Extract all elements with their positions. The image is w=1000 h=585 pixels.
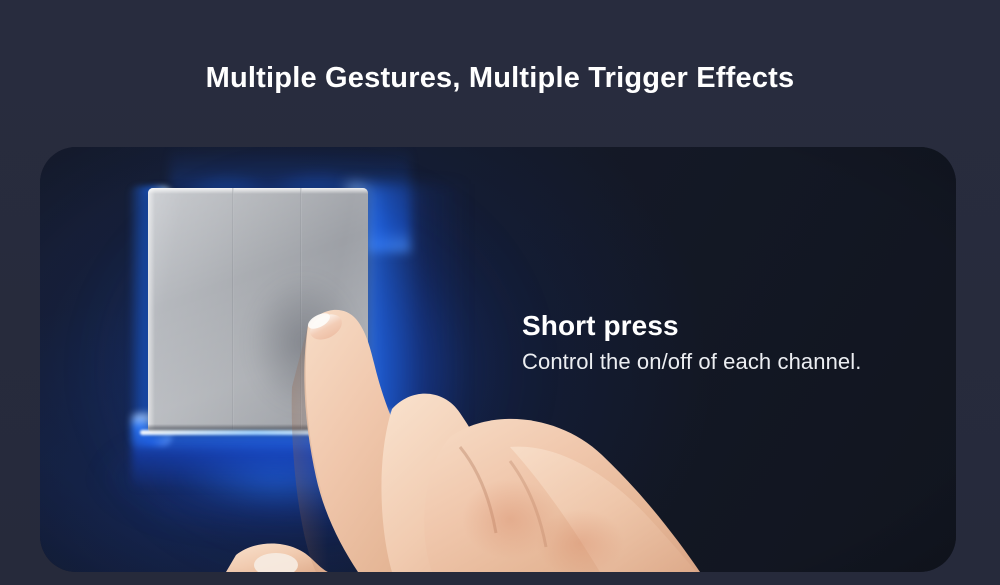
page-title: Multiple Gestures, Multiple Trigger Effe…	[0, 62, 1000, 95]
promo-banner: Multiple Gestures, Multiple Trigger Effe…	[0, 0, 1000, 585]
feature-card: Short press Control the on/off of each c…	[40, 147, 956, 572]
card-vignette	[40, 147, 956, 572]
